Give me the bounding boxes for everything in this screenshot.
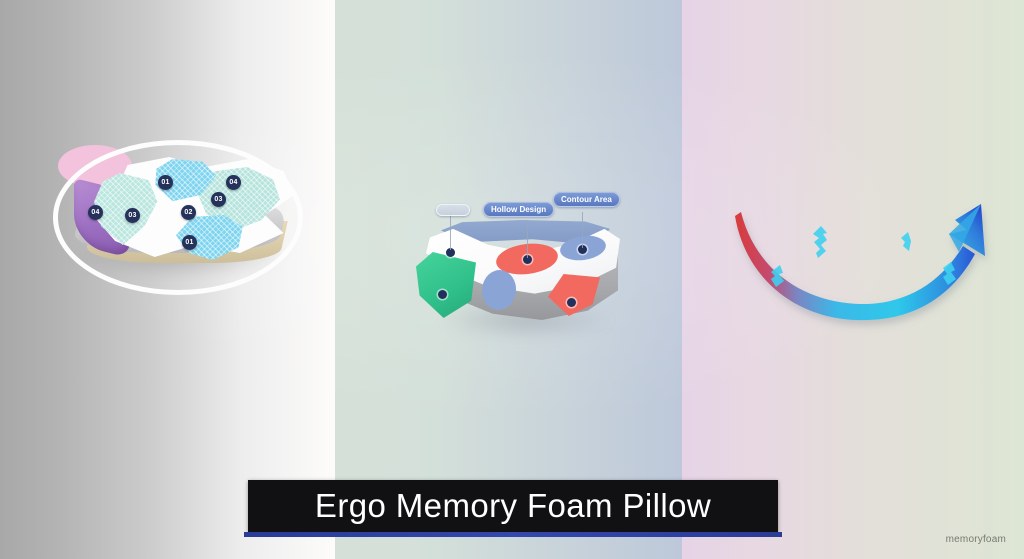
arrow-accent-marks [771, 226, 956, 287]
pillow-zone-pink-center [58, 145, 132, 187]
poster-stage: 01 02 03 04 04 03 01 Hollow Design Conto… [0, 0, 1024, 559]
pillow-badge-04-side: 04 [226, 175, 241, 190]
title-underline [244, 532, 782, 537]
callout-hollow-design[interactable]: Hollow Design [483, 202, 554, 217]
watermark-text: memoryfoam [946, 534, 1006, 545]
leader-line-contour [582, 212, 583, 248]
callout-contour-area[interactable]: Contour Area [553, 192, 620, 207]
pillow-badge-03-right: 03 [211, 192, 226, 207]
support-curve-arrow [735, 190, 995, 325]
callout-blank[interactable] [436, 204, 470, 216]
page-title: Ergo Memory Foam Pillow [315, 487, 711, 525]
title-banner: Ergo Memory Foam Pillow [248, 480, 778, 532]
pillow-badge-01-top: 01 [158, 175, 173, 190]
pillow-badge-04-purple: 04 [88, 205, 103, 220]
zoned-pillow-top-view: 01 02 03 04 04 03 01 [58, 145, 298, 290]
arrow-body [735, 204, 985, 320]
arrow-svg [735, 190, 995, 325]
pillow-badge-01-bottom: 01 [182, 235, 197, 250]
pillow-badge-02-center: 02 [181, 205, 196, 220]
marker-dot-red-patch [567, 298, 576, 307]
pillow-badge-03-left: 03 [125, 208, 140, 223]
leader-line-blank [450, 214, 451, 250]
leader-line-hollow [527, 220, 528, 258]
marker-dot-green-wedge [438, 290, 447, 299]
contoured-pillow-3d: Hollow Design Contour Area [410, 190, 640, 355]
